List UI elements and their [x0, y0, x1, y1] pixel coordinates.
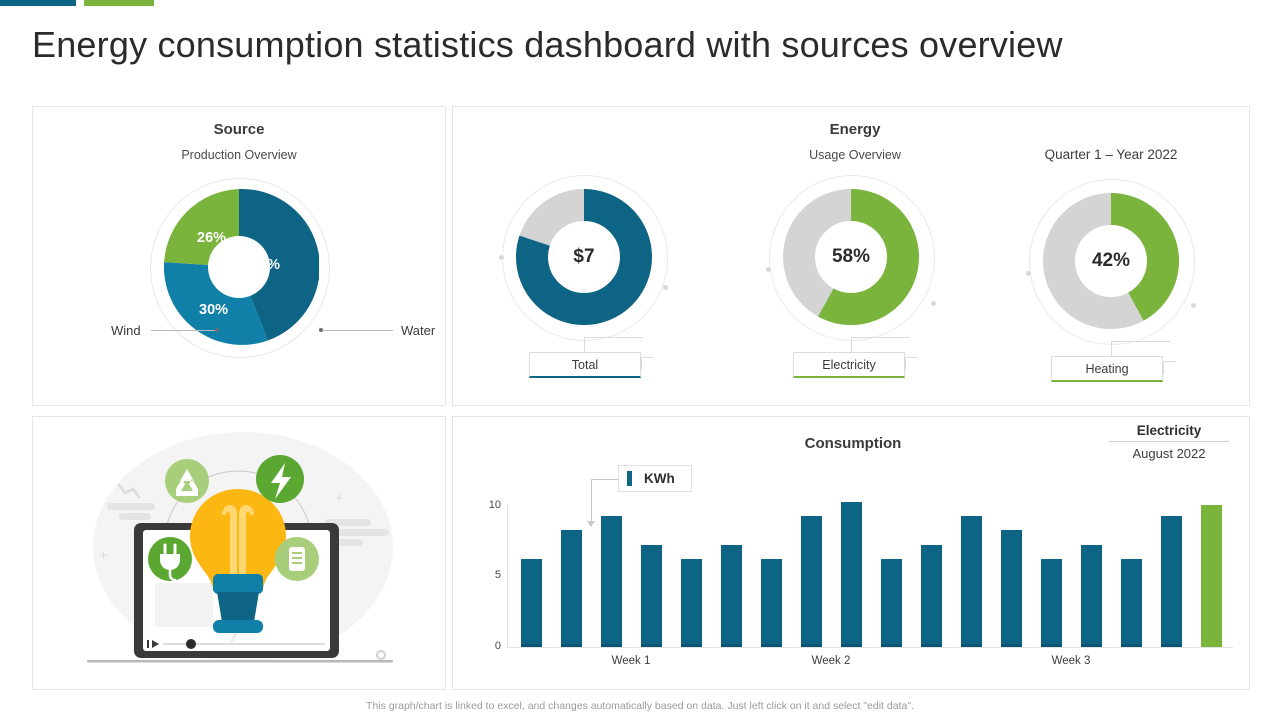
gauge-electricity-dot-left: [766, 267, 771, 272]
bar-cell: [871, 505, 911, 647]
consumption-series-period: August 2022: [1109, 442, 1229, 461]
source-donut-svg: [159, 187, 319, 347]
bulb-collar: [213, 574, 263, 594]
y-tick-10: 10: [481, 499, 501, 511]
illustration-panel: + +: [32, 416, 446, 690]
leader-line-water: [323, 330, 393, 331]
gauge-total-center-value: $7: [516, 189, 652, 325]
bulb-base: [217, 592, 259, 622]
callout-tick-electricity: [905, 357, 918, 370]
energy-panel-title: Energy: [705, 121, 1005, 138]
accent-bar-teal: [0, 0, 76, 6]
gauge-electricity[interactable]: 58%: [783, 189, 919, 325]
consumption-series-block: Electricity August 2022: [1109, 423, 1229, 461]
bar-6[interactable]: [721, 545, 742, 647]
gauge-total[interactable]: $7: [516, 189, 652, 325]
footer-note: This graph/chart is linked to excel, and…: [0, 700, 1280, 712]
callout-heating[interactable]: Heating: [1051, 356, 1163, 382]
source-legend-water: Water: [401, 323, 435, 338]
kwh-legend-label: KWh: [644, 471, 675, 486]
bar-2[interactable]: [561, 530, 582, 647]
bar-12[interactable]: [961, 516, 982, 647]
bar-cell: [671, 505, 711, 647]
source-slice-label-water: 44%: [251, 257, 280, 273]
gauge-total-dot-right: [663, 285, 668, 290]
bar-cell: [1111, 505, 1151, 647]
bar-8[interactable]: [801, 516, 822, 647]
ground-line: [87, 660, 393, 663]
kwh-legend-swatch: [627, 471, 632, 486]
bar-cell: [951, 505, 991, 647]
y-tick-0: 0: [481, 640, 501, 652]
gauge-total-dot-left: [499, 255, 504, 260]
gauge-electricity-center-value: 58%: [783, 189, 919, 325]
bar-16[interactable]: [1121, 559, 1142, 647]
bar-cell: [591, 505, 631, 647]
source-legend-wind: Wind: [111, 323, 141, 338]
bar-17[interactable]: [1161, 516, 1182, 647]
bar-11[interactable]: [921, 545, 942, 647]
consumption-panel-title: Consumption: [653, 435, 1053, 452]
x-tick-week-2: Week 2: [791, 655, 871, 667]
gauge-heating-center-value: 42%: [1043, 193, 1179, 329]
bar-15[interactable]: [1081, 545, 1102, 647]
callout-tick-total: [641, 357, 654, 370]
bar-series-kwh: [511, 505, 1231, 647]
gauge-heating-dot-right: [1191, 303, 1196, 308]
x-tick-week-1: Week 1: [591, 655, 671, 667]
bar-cell: [791, 505, 831, 647]
page-title: Energy consumption statistics dashboard …: [32, 24, 1232, 66]
bar-cell: [751, 505, 791, 647]
bar-cell: [631, 505, 671, 647]
energy-panel-quarter-label: Quarter 1 – Year 2022: [961, 147, 1261, 162]
bar-cell: [1031, 505, 1071, 647]
energy-panel: Energy Usage Overview Quarter 1 – Year 2…: [452, 106, 1250, 406]
leader-dot-water: [319, 328, 323, 332]
y-tick-5: 5: [481, 569, 501, 581]
bar-3[interactable]: [601, 516, 622, 647]
source-slice-label-wind: 26%: [197, 230, 226, 246]
source-panel: Source Production Overview 44% 30% 26% W…: [32, 106, 446, 406]
plus-decoration-icon: +: [99, 547, 108, 564]
bar-cell: [1151, 505, 1191, 647]
source-panel-title: Source: [33, 121, 445, 138]
leader-dot-wind: [215, 328, 219, 332]
bar-1[interactable]: [521, 559, 542, 647]
bar-5[interactable]: [681, 559, 702, 647]
plus-decoration-icon-2: +: [335, 490, 344, 507]
y-axis-line: [507, 505, 508, 647]
bulb-base-ring: [213, 620, 263, 633]
bar-cell: [1191, 505, 1231, 647]
bar-7[interactable]: [761, 559, 782, 647]
callout-total[interactable]: Total: [529, 352, 641, 378]
gauge-electricity-dot-right: [931, 301, 936, 306]
battery-cap: [292, 539, 301, 545]
accent-bar-green: [84, 0, 154, 6]
bar-cell: [711, 505, 751, 647]
bar-9[interactable]: [841, 502, 862, 647]
bar-18[interactable]: [1201, 505, 1222, 647]
bar-cell: [911, 505, 951, 647]
source-donut-chart: 44% 30% 26%: [159, 187, 319, 347]
leader-line-wind: [151, 330, 217, 331]
callout-electricity[interactable]: Electricity: [793, 352, 905, 378]
bar-13[interactable]: [1001, 530, 1022, 647]
energy-illustration: + +: [33, 417, 445, 689]
bar-cell: [511, 505, 551, 647]
x-tick-week-3: Week 3: [1031, 655, 1111, 667]
bar-cell: [551, 505, 591, 647]
gauge-heating-dot-left: [1026, 271, 1031, 276]
bar-cell: [1071, 505, 1111, 647]
bar-cell: [991, 505, 1031, 647]
bar-14[interactable]: [1041, 559, 1062, 647]
consumption-bar-chart: 10 5 0 Week 1 Week 2 Week 3: [481, 505, 1233, 665]
callout-tick-heating: [1163, 361, 1176, 374]
source-slice-label-fossil: 30%: [199, 302, 228, 318]
consumption-series-name: Electricity: [1109, 423, 1229, 442]
consumption-panel: Consumption Electricity August 2022 KWh …: [452, 416, 1250, 690]
energy-panel-subtitle: Usage Overview: [705, 148, 1005, 162]
bar-cell: [831, 505, 871, 647]
screen-placeholder-shape: [155, 583, 213, 627]
bar-10[interactable]: [881, 559, 902, 647]
x-axis-line: [507, 647, 1233, 648]
gauge-heating[interactable]: 42%: [1043, 193, 1179, 329]
kwh-legend[interactable]: KWh: [618, 465, 692, 492]
bar-4[interactable]: [641, 545, 662, 647]
kwh-leader-horizontal: [591, 479, 619, 480]
source-panel-subtitle: Production Overview: [33, 148, 445, 162]
circle-decoration-icon: [377, 651, 385, 659]
